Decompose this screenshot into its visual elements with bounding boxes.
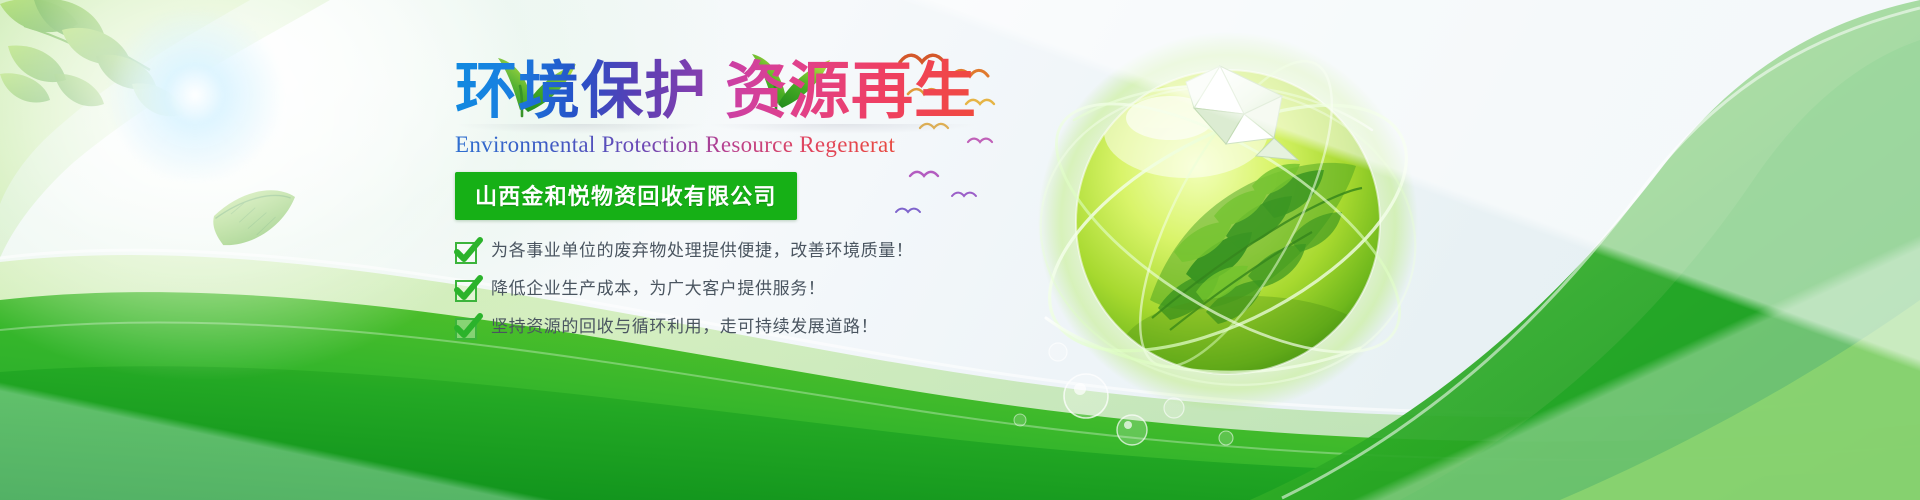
- atom-orbit-icon: [1012, 36, 1444, 409]
- check-icon: [455, 242, 477, 264]
- headline-part-1: 环境保护: [455, 54, 707, 127]
- list-item: 降低企业生产成本，为广大客户提供服务！: [455, 278, 895, 302]
- banner-text-block: 环境保护资源再生 Environmental Protection Resour…: [455, 52, 895, 372]
- check-icon: [455, 318, 477, 340]
- list-item: 坚持资源的回收与循环利用，走可持续发展道路！: [455, 316, 895, 340]
- list-item: 为各事业单位的废弃物处理提供便捷，改善环境质量！: [455, 240, 895, 264]
- paper-crane-icon: [1186, 66, 1298, 160]
- list-item-label: 坚持资源的回收与循环利用，走可持续发展道路！: [491, 316, 878, 338]
- list-item-label: 为各事业单位的废弃物处理提供便捷，改善环境质量！: [491, 240, 913, 262]
- leaf-branch-icon: [0, 0, 184, 116]
- headline: 环境保护资源再生: [455, 52, 895, 130]
- subtitle: Environmental Protection Resource Regene…: [455, 132, 895, 158]
- company-name-label: 山西金和悦物资回收有限公司: [475, 185, 777, 210]
- company-name-badge: 山西金和悦物资回收有限公司: [455, 172, 797, 220]
- bubble-icon: [1014, 343, 1233, 445]
- feature-list: 为各事业单位的废弃物处理提供便捷，改善环境质量！ 降低企业生产成本，为广大客户提…: [455, 240, 895, 340]
- check-icon: [455, 280, 477, 302]
- promo-banner: 环境保护资源再生 Environmental Protection Resour…: [0, 0, 1920, 500]
- green-globe-icon: [1038, 32, 1418, 412]
- list-item-label: 降低企业生产成本，为广大客户提供服务！: [491, 278, 825, 300]
- headline-part-2: 资源再生: [725, 54, 977, 127]
- sun-flare-icon: [95, 10, 295, 180]
- leaf-icon: [208, 177, 296, 259]
